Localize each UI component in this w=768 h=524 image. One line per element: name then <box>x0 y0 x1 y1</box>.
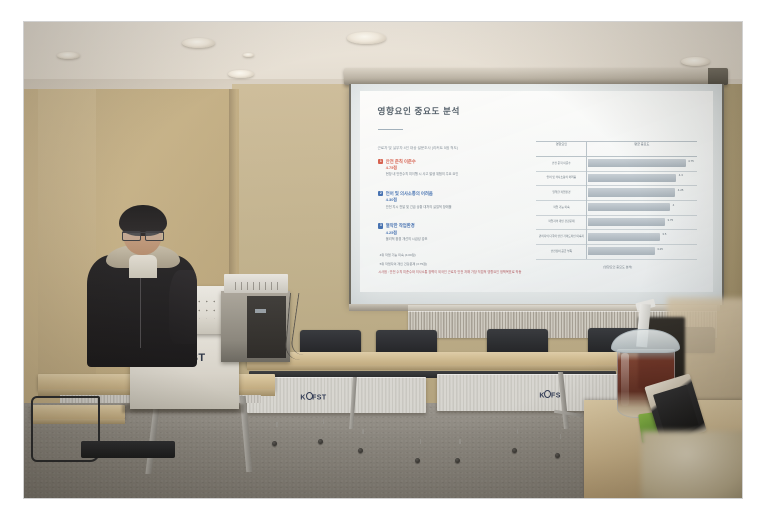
chart-row: 안전장비 공급 부족3.25 <box>536 244 697 260</box>
table-caster <box>272 441 277 446</box>
foreground-blurred-foreground <box>641 431 742 498</box>
presenter-arm <box>169 270 197 344</box>
folding-table-edge <box>247 365 620 370</box>
ceiling-downlight <box>228 70 254 78</box>
chart-row-label: 안전 준칙 미준수 <box>536 156 587 171</box>
finding-label: 언어 및 의사소통의 어려움 <box>386 191 433 197</box>
photo-frame: 영향요인 중요도 분석 근로자 및 실무자 4인 대상 설문조사 (리커트 5점… <box>0 0 768 524</box>
finding-score: 4.30점 <box>386 197 397 203</box>
chart-bar <box>588 218 665 226</box>
chart-row-label: 관리자의 다국어 안전 가이드라인 미숙지 <box>536 229 587 244</box>
ceiling-downlight <box>347 32 386 43</box>
rank-badge: 1 <box>378 159 383 164</box>
chart-row-label: 언어 및 의사소통의 어려움 <box>536 171 587 186</box>
chart-header-row: 영향요인 평균 중요도 <box>536 142 697 157</box>
caster-stem <box>560 434 562 439</box>
chair-seat <box>81 441 174 458</box>
caster-stem <box>323 419 325 424</box>
caster-stem <box>362 429 364 434</box>
chart-bar-value: 3.5 <box>662 232 666 236</box>
finding-desc: 안전 지시 전달 및 긴급 상황 대처의 실질적 장애물 <box>386 204 452 209</box>
slide-subtitle: 근로자 및 실무자 4인 대상 설문조사 (리커트 5점 척도) <box>377 146 458 151</box>
projector-screen-housing <box>344 68 728 85</box>
chart-row: 안전 준칙 미준수4.75 <box>536 156 697 172</box>
table-caster <box>318 439 323 444</box>
printer <box>224 274 289 293</box>
projection-screen: 영향요인 중요도 분석 근로자 및 실무자 4인 대상 설문조사 (리커트 5점… <box>349 84 725 305</box>
chart-bar-value: 4.25 <box>678 188 684 192</box>
chart-bar-value: 3.25 <box>657 247 663 251</box>
chair <box>487 329 548 354</box>
chart-row: 언어 및 의사소통의 어려움4.3 <box>536 171 697 187</box>
chart-row: 열악한 작업환경4.25 <box>536 185 697 201</box>
chart-row: 관리자의 다국어 안전 가이드라인 미숙지3.5 <box>536 229 697 245</box>
printer-vent <box>230 282 282 290</box>
table-caster <box>415 458 420 463</box>
rank-badge: 3 <box>378 223 383 228</box>
table-caster <box>358 448 363 453</box>
chair <box>376 330 437 354</box>
presenter <box>84 205 199 367</box>
chart-row-label: 안전장비 공급 부족 <box>536 244 587 259</box>
chart-bar <box>588 174 676 182</box>
chart-row: 작업자의 개인 건강문제3.75 <box>536 215 697 231</box>
conference-room-photo: 영향요인 중요도 분석 근로자 및 실무자 4인 대상 설문조사 (리커트 5점… <box>24 22 742 498</box>
chart-column-header-factor: 영향요인 <box>536 142 587 156</box>
chart-bar-value: 4 <box>673 203 675 207</box>
chart-bar-value: 3.75 <box>667 218 673 222</box>
finding-label: 안전 준칙 이준수 <box>386 159 416 165</box>
finding-score: 4.25점 <box>386 230 397 236</box>
kofst-table-logo: KFST <box>300 392 326 402</box>
caster-stem <box>276 422 278 427</box>
table-caster <box>455 458 460 463</box>
chart-caption: [영향요인 중요도 분석] <box>544 264 692 269</box>
chart-row-label: 작업 기능 미숙 <box>536 200 587 215</box>
chart-bar-value: 4.3 <box>679 173 683 177</box>
presenter-inner-shirt <box>129 255 157 278</box>
av-equipment-unit <box>247 296 286 358</box>
finding-desc: 현장 내 안전수칙 미이행 시 사고 발생 위험의 주요 요인 <box>386 171 458 176</box>
slide-footnote: 시사점 : 안전 수칙 미준수와 의사소통 장벽이 외국인 근로자 안전 저해 … <box>378 270 583 275</box>
finding-desc: 물리적 환경 개선의 시급성 강조 <box>386 236 428 241</box>
chart-row-label: 작업자의 개인 건강문제 <box>536 215 587 230</box>
chart-row-label: 열악한 작업환경 <box>536 185 587 200</box>
chart-row: 작업 기능 미숙4 <box>536 200 697 216</box>
slide-note: 4위 작업 기능 미숙 (4.00점) <box>380 252 416 257</box>
importance-bar-chart: 영향요인 평균 중요도 안전 준칙 미준수4.75언어 및 의사소통의 어려움4… <box>536 141 697 260</box>
chart-bar <box>588 188 675 196</box>
chart-column-header-score: 평균 중요도 <box>586 142 697 156</box>
caster-stem <box>517 429 519 434</box>
finding-score: 4.75점 <box>386 165 397 171</box>
rank-badge: 2 <box>378 191 383 196</box>
cup-dome-lid <box>611 329 680 353</box>
finding-label: 열악한 작업환경 <box>386 223 415 229</box>
caster-stem <box>459 439 461 444</box>
chart-bar-value: 4.75 <box>688 159 694 163</box>
screen-housing-endcap <box>708 68 727 85</box>
chart-bar <box>588 233 660 241</box>
equipment-led-panel <box>255 309 265 313</box>
cup-highlight <box>621 353 629 406</box>
presentation-slide: 영향요인 중요도 분석 근로자 및 실무자 4인 대상 설문조사 (리커트 5점… <box>360 91 713 292</box>
chart-bar <box>588 247 655 255</box>
phone-screen <box>653 384 699 435</box>
slide-title-underline <box>378 129 403 130</box>
chart-bar <box>588 159 686 167</box>
slide-title: 영향요인 중요도 분석 <box>377 105 460 117</box>
chart-bar <box>588 203 670 211</box>
caster-stem <box>420 439 422 444</box>
glasses-bridge-icon <box>122 232 163 239</box>
slide-note: 5위 작업자의 개인 건강문제 (3.75점) <box>380 261 427 266</box>
ceiling-downlight <box>57 52 80 59</box>
